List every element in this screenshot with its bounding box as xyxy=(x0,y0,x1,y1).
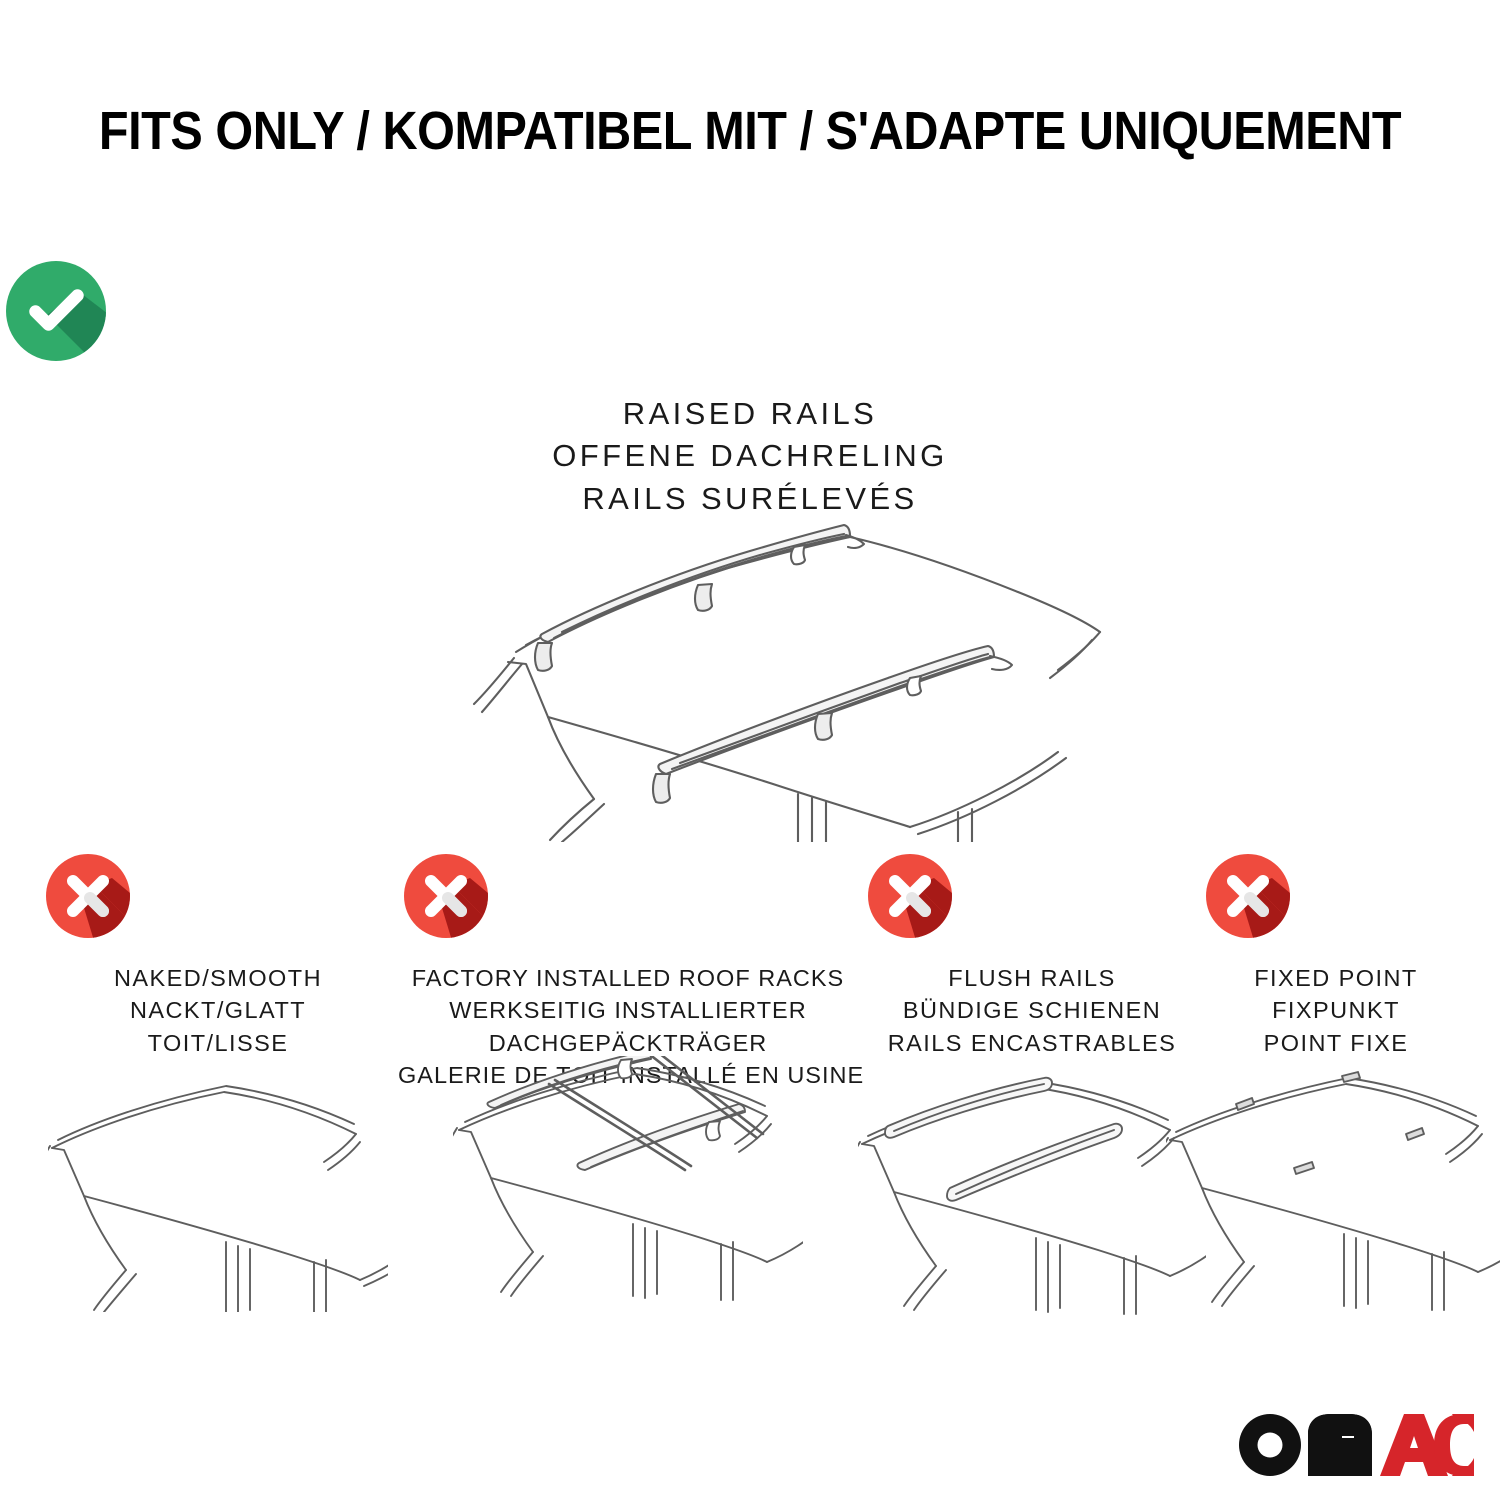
label-en: FIXED POINT xyxy=(1200,962,1472,994)
label-de: FIXPUNKT xyxy=(1200,994,1472,1026)
label-fr: RAILS ENCASTRABLES xyxy=(862,1027,1202,1059)
x-circle-icon xyxy=(40,848,396,944)
label-en: NAKED/SMOOTH xyxy=(40,962,396,994)
car-roof-fixed-point-illustration xyxy=(1166,1062,1500,1312)
x-circle-icon xyxy=(398,848,858,944)
incompatible-item-naked-smooth: NAKED/SMOOTH NACKT/GLATT TOIT/LISSE xyxy=(40,848,396,1059)
label-fr: POINT FIXE xyxy=(1200,1027,1472,1059)
label-fr: TOIT/LISSE xyxy=(40,1027,396,1059)
car-roof-factory-racks-illustration xyxy=(453,1056,803,1312)
incompatible-item-flush-rails: FLUSH RAILS BÜNDIGE SCHIENEN RAILS ENCAS… xyxy=(862,848,1202,1059)
incompatible-item-fixed-point: FIXED POINT FIXPUNKT POINT FIXE xyxy=(1200,848,1472,1059)
logo-letter-o xyxy=(1239,1414,1301,1476)
incompatible-labels: NAKED/SMOOTH NACKT/GLATT TOIT/LISSE xyxy=(40,962,396,1059)
incompatible-labels: FLUSH RAILS BÜNDIGE SCHIENEN RAILS ENCAS… xyxy=(862,962,1202,1059)
car-roof-naked-smooth-illustration xyxy=(48,1062,388,1312)
compatible-label-en: RAISED RAILS xyxy=(0,393,1500,435)
label-de-line2: DACHGEPÄCKTRÄGER xyxy=(398,1027,858,1059)
omac-logo xyxy=(1238,1412,1474,1478)
car-roof-flush-rails-illustration xyxy=(858,1064,1206,1316)
incompatible-section: NAKED/SMOOTH NACKT/GLATT TOIT/LISSE xyxy=(0,848,1500,1368)
label-de: BÜNDIGE SCHIENEN xyxy=(862,994,1202,1026)
logo-letter-m xyxy=(1308,1414,1372,1476)
compatible-label-de: OFFENE DACHRELING xyxy=(0,435,1500,477)
compatible-section: RAISED RAILS OFFENE DACHRELING RAILS SUR… xyxy=(0,255,1500,520)
label-de: NACKT/GLATT xyxy=(40,994,396,1026)
page-title: FITS ONLY / KOMPATIBEL MIT / S'ADAPTE UN… xyxy=(75,104,1425,158)
label-de-line1: WERKSEITIG INSTALLIERTER xyxy=(398,994,858,1026)
incompatible-item-factory-racks: FACTORY INSTALLED ROOF RACKS WERKSEITIG … xyxy=(398,848,858,1092)
check-circle-icon xyxy=(0,255,1500,367)
x-circle-icon xyxy=(1200,848,1472,944)
x-circle-icon xyxy=(862,848,1202,944)
compatible-labels: RAISED RAILS OFFENE DACHRELING RAILS SUR… xyxy=(0,393,1500,520)
label-en: FLUSH RAILS xyxy=(862,962,1202,994)
label-en: FACTORY INSTALLED ROOF RACKS xyxy=(398,962,858,994)
car-roof-raised-rails-illustration xyxy=(398,512,1108,842)
incompatible-labels: FIXED POINT FIXPUNKT POINT FIXE xyxy=(1200,962,1472,1059)
header: FITS ONLY / KOMPATIBEL MIT / S'ADAPTE UN… xyxy=(0,104,1500,158)
